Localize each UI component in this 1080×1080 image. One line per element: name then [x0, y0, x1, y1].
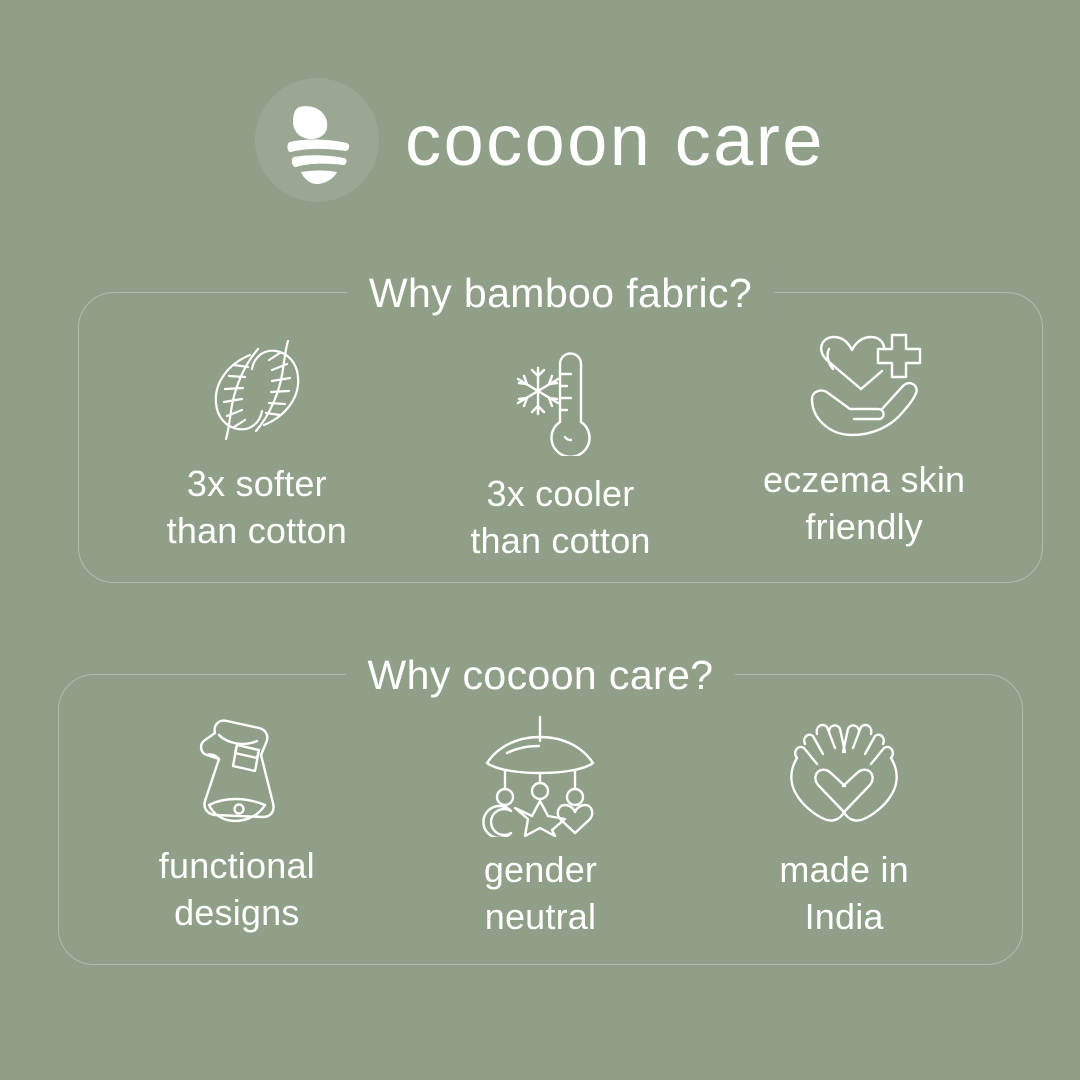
feature-list-cocoon: functional designs: [59, 675, 1022, 964]
brand-header: cocoon care: [0, 74, 1080, 206]
feature-3x-cooler: 3x cooler than cotton: [410, 339, 710, 565]
cocoon-nest-logo-icon: [255, 78, 379, 202]
section-why-bamboo-fabric: Why bamboo fabric? 3x softer than cotton: [78, 292, 1043, 583]
thermometer-snowflake-icon: [504, 339, 616, 461]
feature-label: 3x cooler than cotton: [470, 471, 650, 565]
hand-heart-plus-icon: [804, 325, 924, 447]
feathers-icon: [198, 329, 316, 451]
feature-label: eczema skin friendly: [763, 457, 965, 551]
feature-list-bamboo: 3x softer than cotton: [79, 293, 1042, 582]
feature-label: made in India: [779, 847, 908, 941]
feature-functional-designs: functional designs: [87, 711, 387, 937]
section-why-cocoon-care: Why cocoon care?: [58, 674, 1023, 965]
brand-name: cocoon care: [405, 105, 825, 177]
feature-made-in-india: made in India: [694, 715, 994, 941]
hands-heart-icon: [783, 715, 905, 837]
baby-onesie-icon: [179, 711, 295, 833]
feature-label: functional designs: [159, 843, 315, 937]
crib-mobile-icon: [481, 715, 599, 837]
feature-label: gender neutral: [484, 847, 597, 941]
feature-eczema-skin-friendly: eczema skin friendly: [714, 325, 1014, 551]
feature-label: 3x softer than cotton: [167, 461, 347, 555]
feature-gender-neutral: gender neutral: [390, 715, 690, 941]
feature-3x-softer: 3x softer than cotton: [107, 329, 407, 555]
